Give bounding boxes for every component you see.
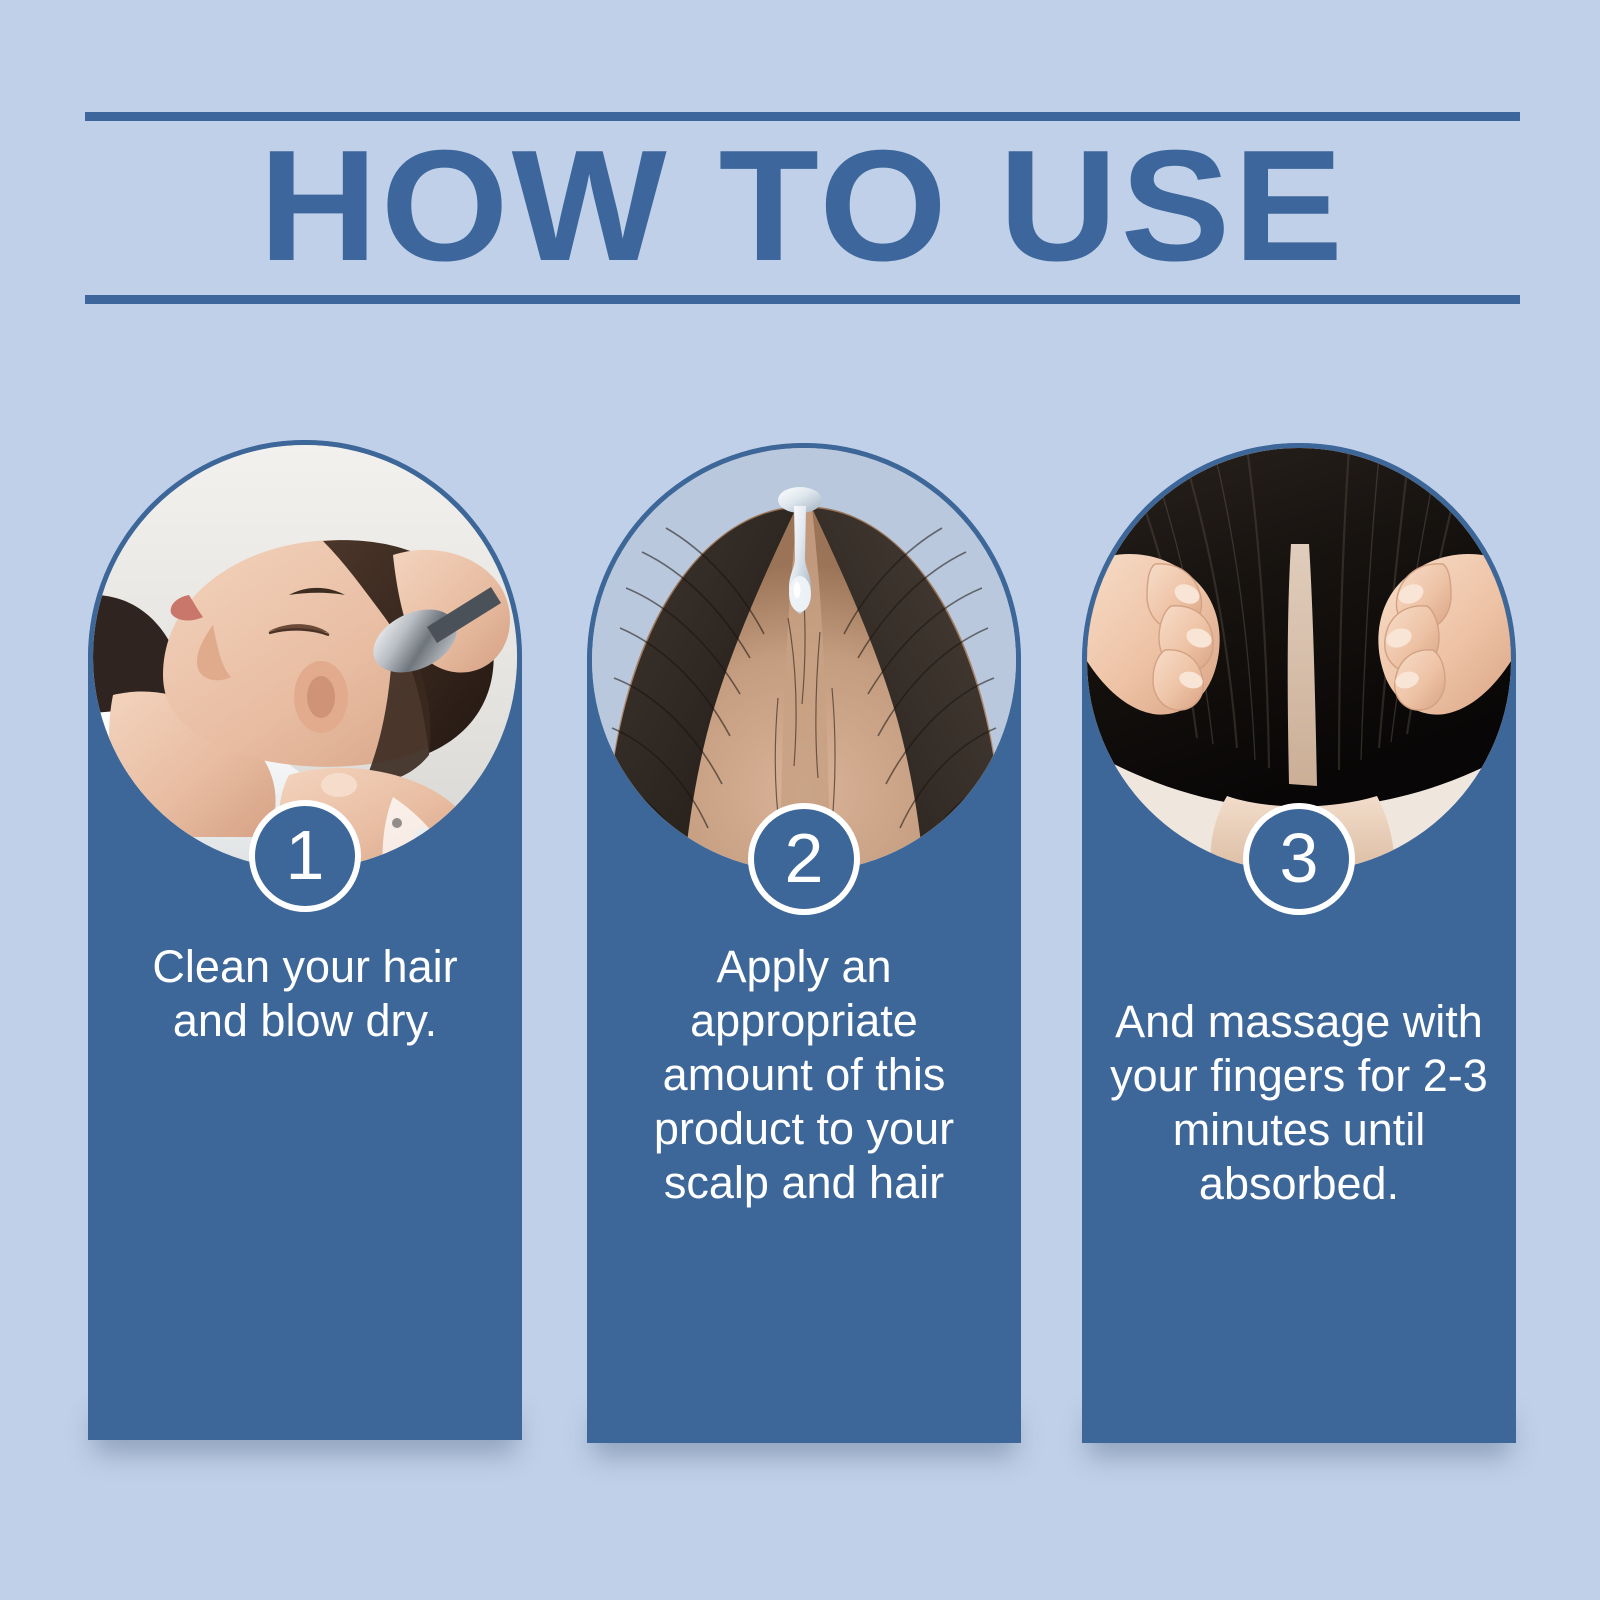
step-card-3: 3 And massage with your fingers for 2-3 …: [1082, 443, 1516, 1443]
step-number: 2: [785, 823, 824, 893]
step-badge-3: 3: [1243, 803, 1355, 915]
step-caption-3: And massage with your fingers for 2-3 mi…: [1104, 995, 1494, 1211]
steps-container: 1 Clean your hair and blow dry.: [0, 0, 1600, 1600]
step-card-1: 1 Clean your hair and blow dry.: [88, 440, 522, 1440]
step-caption-2: Apply an appropriate amount of this prod…: [609, 940, 999, 1210]
card-body: 3 And massage with your fingers for 2-3 …: [1082, 443, 1516, 1443]
step-card-2: 2 Apply an appropriate amount of this pr…: [587, 443, 1021, 1443]
card-body: 1 Clean your hair and blow dry.: [88, 440, 522, 1440]
card-body: 2 Apply an appropriate amount of this pr…: [587, 443, 1021, 1443]
step-number: 3: [1280, 823, 1319, 893]
step-caption-1: Clean your hair and blow dry.: [110, 940, 500, 1048]
step-badge-2: 2: [748, 803, 860, 915]
step-number: 1: [286, 820, 325, 890]
step-badge-1: 1: [249, 800, 361, 912]
